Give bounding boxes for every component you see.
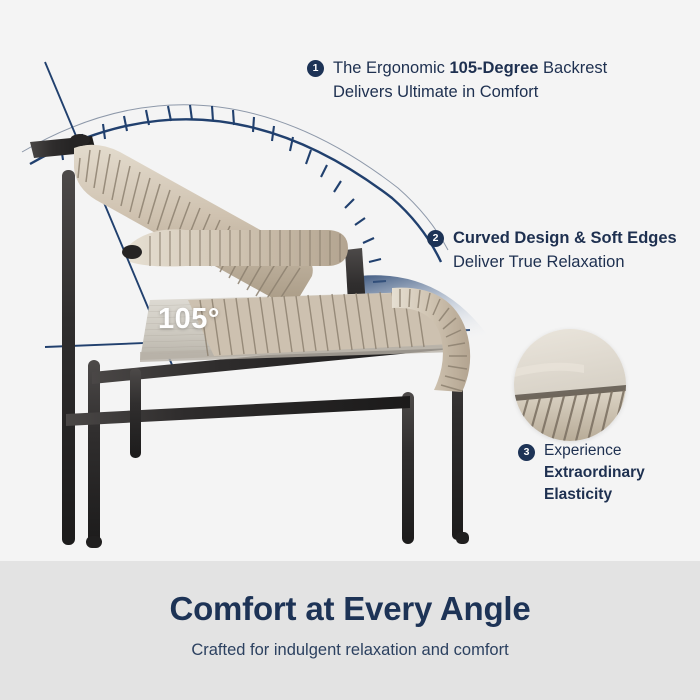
chair-illustration (30, 134, 470, 548)
bottom-banner: Comfort at Every Angle Crafted for indul… (0, 561, 700, 700)
callout-2-line1: Curved Design & Soft Edges (453, 226, 677, 250)
callout-1-line1-pre: The Ergonomic (333, 59, 449, 77)
armrest-rope (128, 229, 348, 266)
chair-side-rail-lower (66, 396, 410, 426)
product-infographic: 105° (0, 0, 700, 700)
banner-title: Comfort at Every Angle (0, 590, 700, 628)
foot-front-left (86, 536, 102, 548)
callout-2-text: Curved Design & Soft Edges Deliver True … (453, 226, 677, 274)
callout-3-badge: 3 (518, 444, 535, 461)
callout-1-text: The Ergonomic 105-Degree Backrest Delive… (333, 56, 607, 104)
callout-3: 3 Experience Extraordinary Elasticity (518, 440, 645, 506)
callout-2-line2: Deliver True Relaxation (453, 250, 677, 274)
foot-rear (456, 532, 469, 544)
chair-cross-support (130, 368, 141, 458)
callout-2-badge: 2 (427, 230, 444, 247)
callout-3-line2: Extraordinary (544, 462, 645, 484)
chair-back-post (62, 170, 75, 545)
callout-3-line3: Elasticity (544, 484, 645, 506)
callout-1-line1-post: Backrest (538, 59, 607, 77)
chair-front-leg-right (402, 392, 414, 544)
callout-1-badge: 1 (307, 60, 324, 77)
callout-1-line2: Delivers Ultimate in Comfort (333, 80, 607, 104)
rope-weave-detail-bubble (514, 329, 626, 441)
callout-1: 1 The Ergonomic 105-Degree Backrest Deli… (307, 56, 607, 104)
callout-1-line1-bold: 105-Degree (449, 59, 538, 77)
angle-label: 105° (158, 303, 220, 336)
callout-3-text: Experience Extraordinary Elasticity (544, 440, 645, 506)
banner-subtitle: Crafted for indulgent relaxation and com… (0, 641, 700, 660)
joint-cap-top (70, 134, 90, 146)
product-stage: 105° (0, 0, 700, 561)
chair-front-leg-left (88, 360, 100, 545)
joint-cap-arm (122, 245, 142, 259)
callout-3-line1: Experience (544, 440, 645, 462)
callout-2: 2 Curved Design & Soft Edges Deliver Tru… (427, 226, 677, 274)
